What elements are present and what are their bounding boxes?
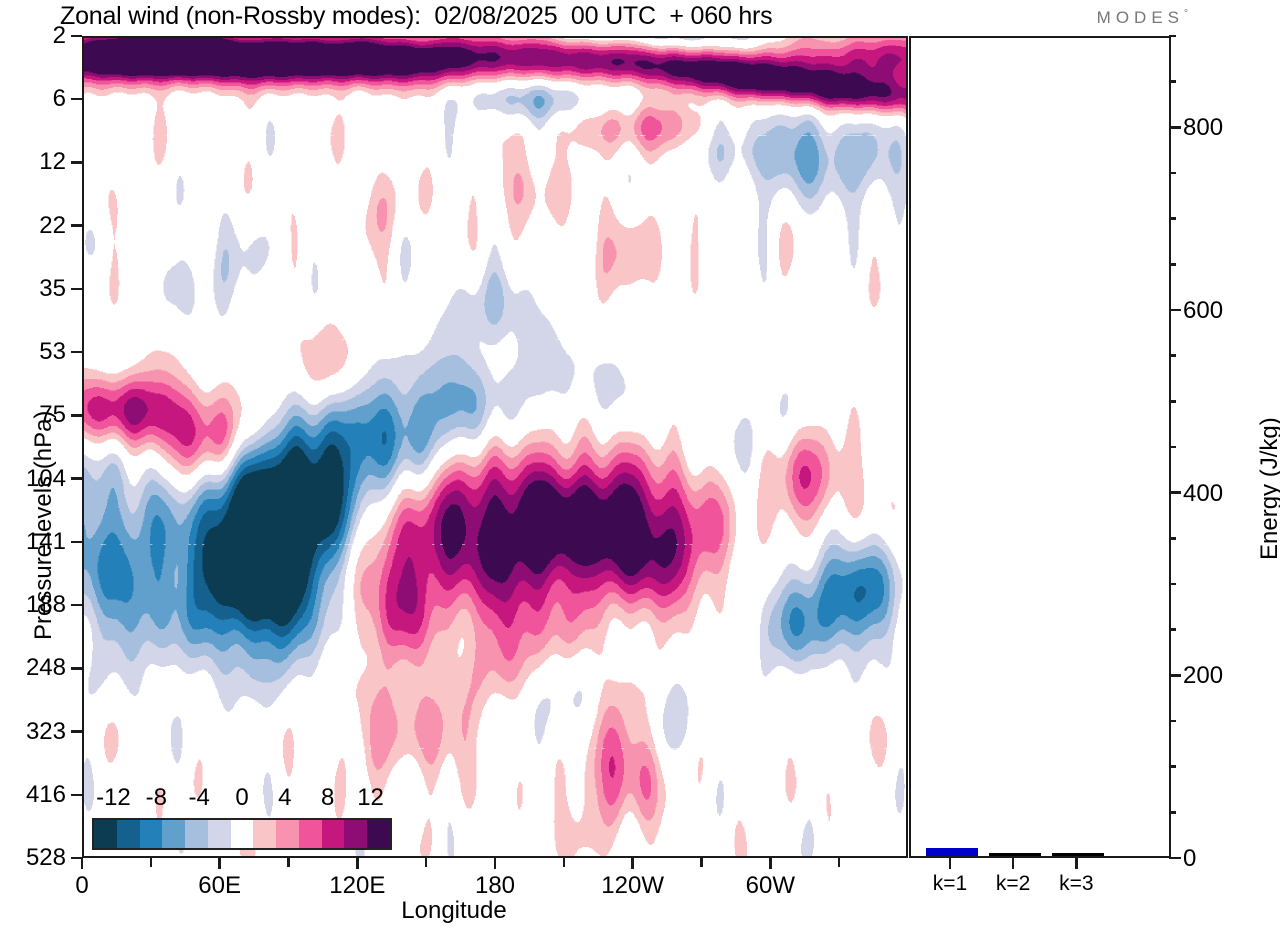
colorbar-tick-label: 12: [331, 784, 411, 812]
x-axis-tick: [769, 858, 772, 869]
energy-axis-minor-tick: [1169, 263, 1176, 266]
x-axis-tick-label: 0: [22, 872, 142, 900]
energy-axis-tick: [1169, 126, 1181, 129]
x-axis-minor-tick: [838, 858, 841, 867]
x-axis-tick: [494, 858, 497, 869]
k-axis-tick: [949, 858, 952, 869]
energy-axis-tick: [1169, 857, 1181, 860]
energy-axis-tick: [1169, 309, 1181, 312]
energy-axis-tick-label: 400: [1183, 480, 1223, 508]
energy-axis-minor-tick: [1169, 400, 1176, 403]
energy-axis-minor-tick: [1169, 35, 1176, 38]
y-axis-tick: [71, 730, 82, 733]
k-axis-tick: [1012, 858, 1015, 869]
degree-icon: °: [1184, 8, 1188, 19]
colorbar-swatch: [276, 820, 299, 848]
y-axis-tick: [71, 98, 82, 101]
energy-axis-tick-label: 800: [1183, 114, 1223, 142]
x-axis-tick-label: 120E: [297, 872, 417, 900]
colorbar-swatch: [140, 820, 163, 848]
modes-logo: MODES°: [1097, 8, 1188, 28]
x-axis-minor-tick: [700, 858, 703, 867]
y-axis-tick-label: 6: [0, 87, 66, 111]
energy-axis-title: Energy (J/kg): [1256, 417, 1280, 560]
x-axis-minor-tick: [563, 858, 566, 867]
y-axis-tick: [71, 477, 82, 480]
chart-title: Zonal wind (non-Rossby modes): 02/08/202…: [60, 2, 960, 32]
x-axis-label: Longitude: [0, 897, 908, 925]
y-axis-tick: [71, 604, 82, 607]
colorbar-swatch: [117, 820, 140, 848]
energy-axis-tick-label: 200: [1183, 662, 1223, 690]
x-axis-tick: [81, 858, 84, 869]
energy-axis-minor-tick: [1169, 537, 1176, 540]
x-axis-tick: [631, 858, 634, 869]
energy-axis-minor-tick: [1169, 80, 1176, 83]
colorbar-swatch: [344, 820, 367, 848]
energy-axis-tick: [1169, 674, 1181, 677]
y-axis-tick-label: 416: [0, 783, 66, 807]
k-axis-tick: [1075, 858, 1078, 869]
energy-axis-minor-tick: [1169, 446, 1176, 449]
energy-bar-k2: [989, 853, 1041, 856]
colorbar: [92, 818, 392, 850]
colorbar-swatch: [253, 820, 276, 848]
y-axis-tick-label: 323: [0, 720, 66, 744]
energy-axis-minor-tick: [1169, 628, 1176, 631]
y-axis-tick: [71, 351, 82, 354]
energy-axis-minor-tick: [1169, 354, 1176, 357]
energy-axis-minor-tick: [1169, 811, 1176, 814]
x-axis-minor-tick: [287, 858, 290, 867]
x-axis-tick-label: 120W: [573, 872, 693, 900]
energy-axis-minor-tick: [1169, 172, 1176, 175]
x-axis-tick-label: 180: [435, 872, 555, 900]
energy-bar-k1: [926, 848, 978, 856]
y-axis-tick: [71, 161, 82, 164]
colorbar-swatch: [94, 820, 117, 848]
x-axis-minor-tick: [150, 858, 153, 867]
energy-bar-panel: [909, 36, 1171, 858]
contour-plot-panel: [82, 36, 908, 858]
x-axis-tick-label: 60E: [160, 872, 280, 900]
y-axis-tick-label: 248: [0, 656, 66, 680]
y-axis-tick: [71, 35, 82, 38]
colorbar-tick-labels: -12-8-404812: [82, 784, 412, 814]
y-axis-tick-label: 12: [0, 150, 66, 174]
y-axis-tick-label: 53: [0, 340, 66, 364]
colorbar-swatch: [185, 820, 208, 848]
x-axis-tick: [218, 858, 221, 869]
x-axis-minor-tick: [425, 858, 428, 867]
energy-axis-tick: [1169, 491, 1181, 494]
y-axis-tick: [71, 541, 82, 544]
x-axis-tick: [356, 858, 359, 869]
y-axis-tick-label: 2: [0, 24, 66, 48]
energy-axis-minor-tick: [1169, 720, 1176, 723]
y-axis-tick-label: 22: [0, 214, 66, 238]
k-axis-tick-label: k=3: [1016, 872, 1136, 896]
colorbar-swatch: [162, 820, 185, 848]
colorbar-swatch: [322, 820, 345, 848]
colorbar-swatch: [367, 820, 390, 848]
colorbar-swatch: [231, 820, 254, 848]
y-axis-tick-label: 35: [0, 277, 66, 301]
energy-axis-tick-label: 600: [1183, 297, 1223, 325]
energy-bar-k3: [1052, 853, 1104, 856]
colorbar-swatch: [299, 820, 322, 848]
y-axis-title: Pressure levels (hPa): [30, 411, 58, 640]
y-axis-tick: [71, 288, 82, 291]
figure-canvas: Zonal wind (non-Rossby modes): 02/08/202…: [0, 0, 1280, 930]
y-axis-tick: [71, 667, 82, 670]
energy-axis-minor-tick: [1169, 765, 1176, 768]
energy-axis-tick-label: 0: [1183, 845, 1196, 873]
energy-axis-minor-tick: [1169, 583, 1176, 586]
colorbar-swatch: [208, 820, 231, 848]
x-axis-tick-label: 60W: [710, 872, 830, 900]
energy-axis-minor-tick: [1169, 217, 1176, 220]
zonal-wind-contour-field: [84, 38, 906, 856]
modes-logo-text: MODES: [1097, 8, 1184, 27]
y-axis-tick: [71, 224, 82, 227]
y-axis-tick: [71, 414, 82, 417]
y-axis-tick-label: 528: [0, 846, 66, 870]
